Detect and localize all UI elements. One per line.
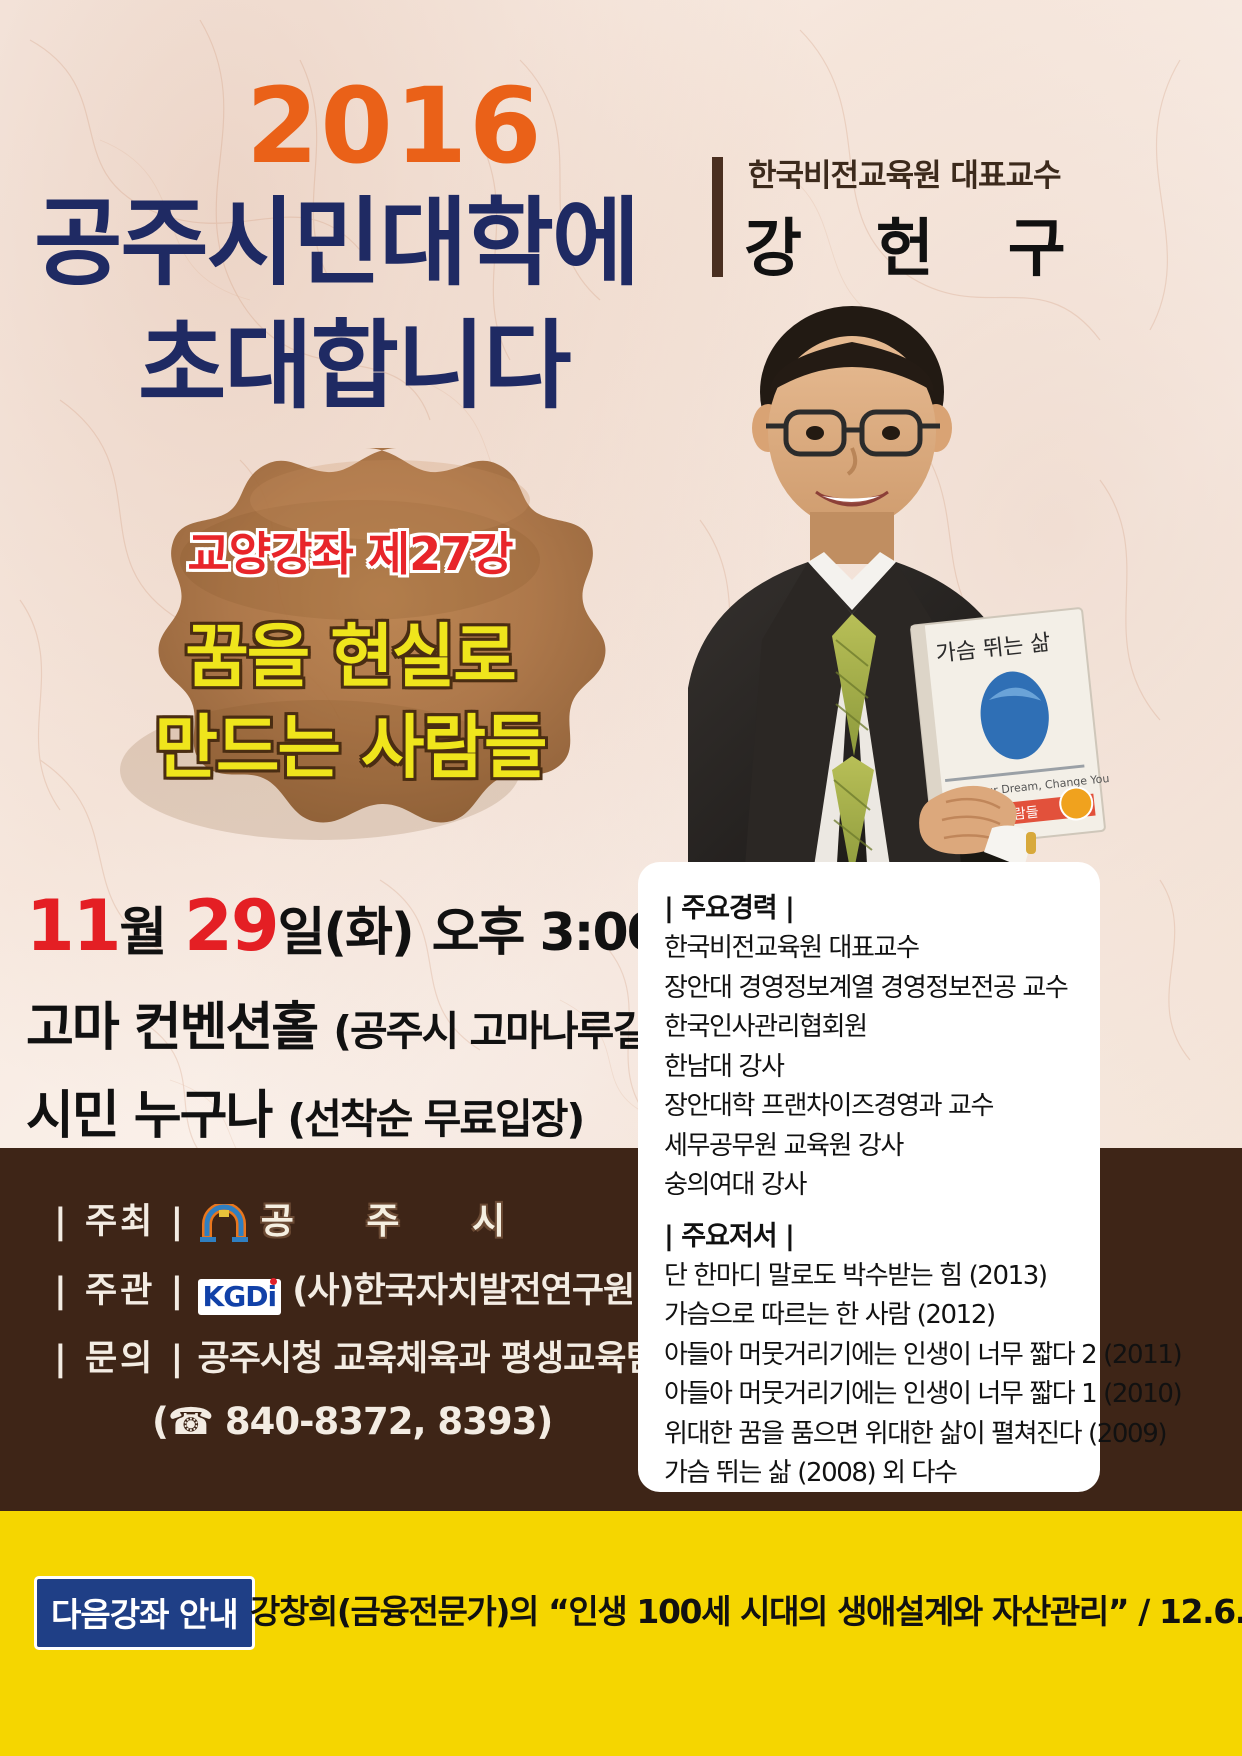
lecture-title: 꿈을 현실로 만드는 사람들 bbox=[0, 612, 700, 794]
poster-canvas: 2016 공주시민대학에 초대합니다 한국비전교육원 대표교수 강 헌 구 bbox=[0, 0, 1242, 1756]
list-item: 단 한마디 말로도 박수받는 힘 (2013) bbox=[664, 1257, 1100, 1297]
list-item: 장안대학 프랜차이즈경영과 교수 bbox=[664, 1087, 1100, 1127]
kgdi-logo-icon: KGDi bbox=[198, 1279, 282, 1315]
organizer-phone: (☎ 840-8372, 8393) bbox=[152, 1400, 552, 1443]
kgdi-logo-dot bbox=[270, 1278, 277, 1285]
audience-label: 시민 누구나 bbox=[26, 1086, 271, 1146]
list-item: 장안대 경영정보계열 경영정보전공 교수 bbox=[664, 969, 1100, 1009]
venue-name: 고마 컨벤션홀 bbox=[26, 998, 317, 1058]
list-item: 한남대 강사 bbox=[664, 1048, 1100, 1088]
kgdi-logo-text: KGDi bbox=[203, 1280, 277, 1313]
lecture-title-line-1: 꿈을 현실로 bbox=[185, 617, 514, 697]
list-item: 아들아 머뭇거리기에는 인생이 너무 짧다 1 (2010) bbox=[664, 1375, 1100, 1415]
list-item: 숭의여대 강사 bbox=[664, 1166, 1100, 1206]
organizer-manager-row: | 주관 | KGDi (사)한국자치발전연구원 bbox=[54, 1262, 634, 1315]
headline-line-1: 공주시민대학에 bbox=[34, 187, 638, 299]
career-list: 한국비전교육원 대표교수 장안대 경영정보계열 경영정보전공 교수 한국인사관리… bbox=[664, 929, 1100, 1206]
speaker-affiliation: 한국비전교육원 대표교수 bbox=[748, 150, 1061, 195]
host-label: | 주최 | bbox=[54, 1202, 186, 1242]
contact-label: | 문의 | bbox=[54, 1339, 186, 1379]
list-item: 한국비전교육원 대표교수 bbox=[664, 929, 1100, 969]
list-item: 가슴 뛰는 삶 (2008) 외 다수 bbox=[664, 1454, 1100, 1494]
next-lecture-text: 강창희(금융전문가)의 “인생 100세 시대의 생애설계와 자산관리” / 1… bbox=[250, 1585, 1242, 1633]
list-item: 위대한 꿈을 품으면 위대한 삶이 펼쳐진다 (2009) bbox=[664, 1415, 1100, 1455]
contact-name: 공주시청 교육체육과 평생교육팀 bbox=[198, 1339, 657, 1379]
list-item: 아들아 머뭇거리기에는 인생이 너무 짧다 2 (2011) bbox=[664, 1336, 1100, 1376]
poster-year: 2016 bbox=[246, 74, 543, 178]
event-day-number: 29 bbox=[184, 885, 277, 967]
list-item: 세무공무원 교육원 강사 bbox=[664, 1127, 1100, 1167]
host-name: 공 주 시 bbox=[261, 1201, 535, 1242]
list-item: 한국인사관리협회원 bbox=[664, 1008, 1100, 1048]
books-heading: | 주요저서 | bbox=[664, 1214, 1100, 1253]
manage-label: | 주관 | bbox=[54, 1271, 186, 1311]
organizer-contact-row: | 문의 | 공주시청 교육체육과 평생교육팀 bbox=[54, 1330, 657, 1381]
headline-line-2: 초대합니다 bbox=[138, 305, 638, 428]
career-heading: | 주요경력 | bbox=[664, 886, 1100, 925]
organizer-host-row: | 주최 | 공 주 시 bbox=[54, 1192, 535, 1244]
event-venue: 고마 컨벤션홀 (공주시 고마나루길 90) bbox=[26, 985, 730, 1060]
poster-headline: 공주시민대학에 초대합니다 bbox=[34, 182, 638, 428]
manage-name: (사)한국자치발전연구원 bbox=[292, 1271, 634, 1311]
speaker-photo: 가슴 뛰는 삶 Live Your Dream, Change Your Des… bbox=[640, 280, 1110, 880]
event-audience: 시민 누구나 (선착순 무료입장) bbox=[26, 1073, 583, 1148]
audience-note: (선착순 무료입장) bbox=[287, 1095, 583, 1143]
lecture-number-label: 교양강좌 제27강 bbox=[0, 518, 700, 584]
lecture-title-line-2: 만드는 사람들 bbox=[155, 708, 546, 788]
next-lecture-badge: 다음강좌 안내 bbox=[34, 1576, 255, 1650]
speaker-accent-bar bbox=[712, 157, 723, 277]
books-list: 단 한마디 말로도 박수받는 힘 (2013) 가슴으로 따르는 한 사람 (2… bbox=[664, 1257, 1100, 1494]
event-month-unit: 월 bbox=[119, 903, 165, 963]
event-month-number: 11 bbox=[26, 885, 119, 967]
gongju-arch-icon bbox=[198, 1204, 250, 1242]
speaker-name: 강 헌 구 bbox=[744, 198, 1092, 289]
speaker-profile-card: | 주요경력 | 한국비전교육원 대표교수 장안대 경영정보계열 경영정보전공 … bbox=[638, 862, 1100, 1492]
list-item: 가슴으로 따르는 한 사람 (2012) bbox=[664, 1296, 1100, 1336]
event-day-unit: 일(화) bbox=[278, 903, 413, 963]
